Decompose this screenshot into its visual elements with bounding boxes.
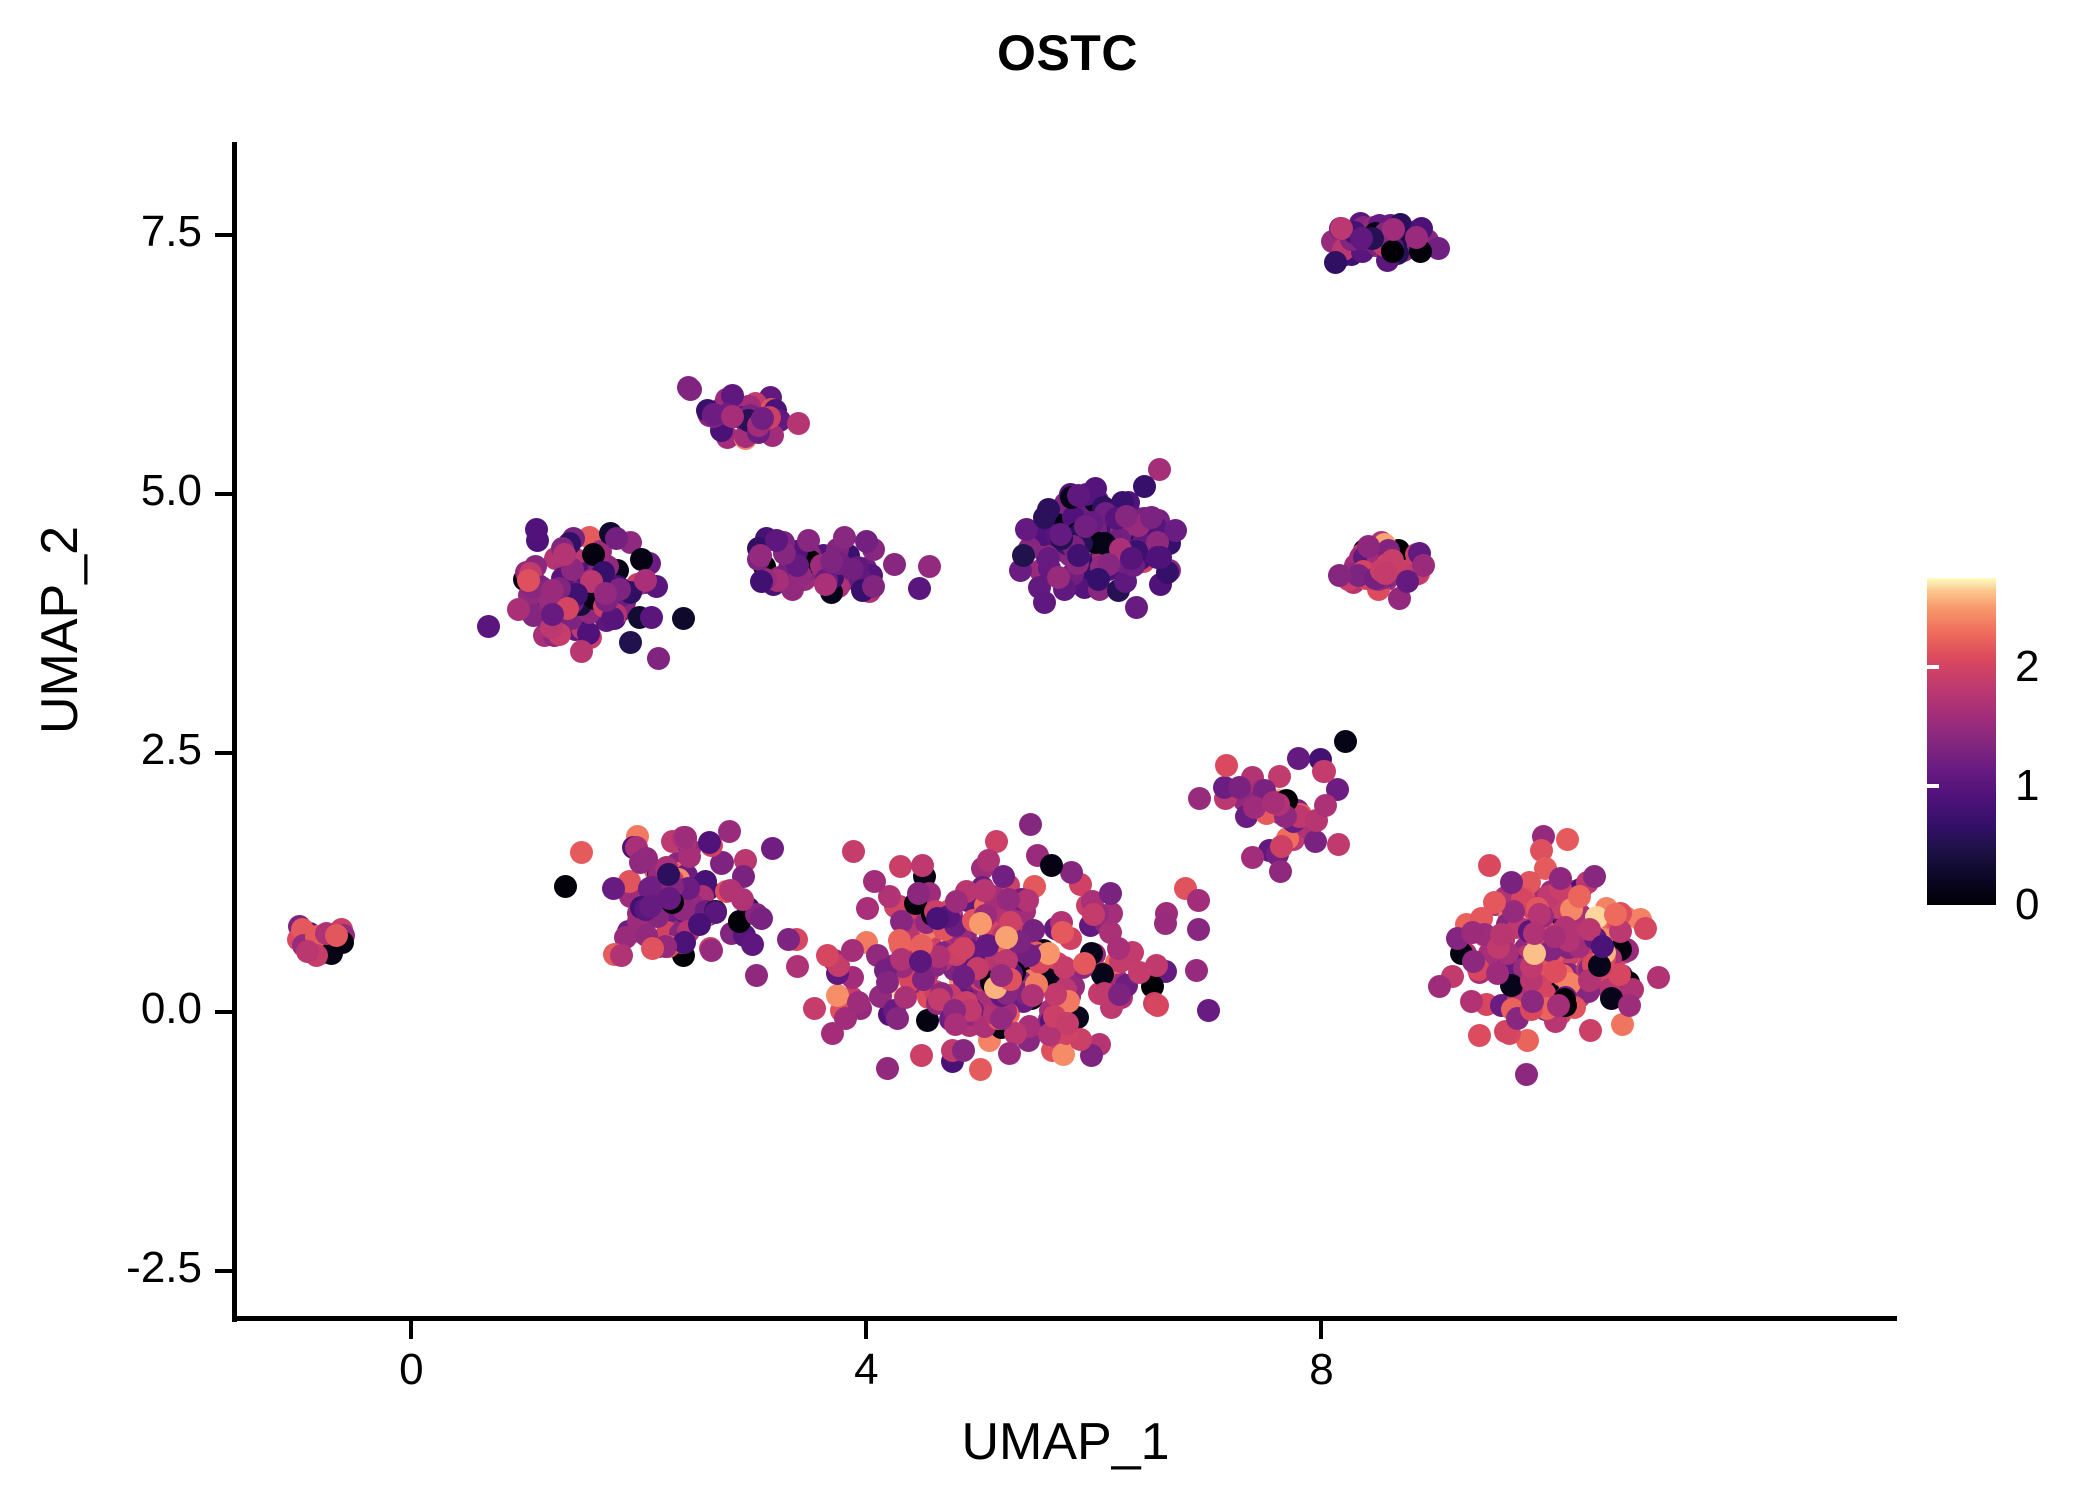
scatter-point	[554, 875, 577, 898]
scatter-point	[641, 937, 664, 960]
scatter-point	[1313, 760, 1336, 783]
scatter-point	[541, 603, 564, 626]
scatter-point	[749, 544, 772, 567]
scatter-point	[777, 928, 800, 951]
scatter-point	[570, 841, 593, 864]
x-axis-tick	[1319, 1321, 1323, 1339]
scatter-point	[678, 845, 701, 868]
scatter-point	[1462, 950, 1485, 973]
scatter-point	[1133, 475, 1156, 498]
scatter-point	[909, 950, 932, 973]
scatter-point	[1128, 961, 1151, 984]
scatter-point	[886, 1007, 909, 1030]
scatter-point	[296, 940, 319, 963]
y-axis-tick-label: 0.0	[0, 984, 202, 1034]
scatter-point	[570, 640, 593, 663]
y-axis-tick	[215, 492, 232, 496]
scatter-point	[1154, 912, 1177, 935]
scatter-point	[841, 939, 864, 962]
scatter-point	[1120, 547, 1143, 570]
scatter-point	[911, 854, 934, 877]
scatter-point	[1568, 885, 1591, 908]
scatter-point	[1270, 835, 1293, 858]
scatter-point	[797, 529, 820, 552]
scatter-point	[1056, 1012, 1079, 1035]
scatter-point	[640, 606, 663, 629]
scatter-point	[1146, 994, 1169, 1017]
scatter-point	[787, 412, 810, 435]
scatter-point	[855, 530, 878, 553]
x-axis-title: UMAP_1	[235, 1412, 1896, 1472]
scatter-point	[1478, 854, 1501, 877]
scatter-point	[908, 577, 931, 600]
scatter-point	[969, 1058, 992, 1081]
scatter-point	[672, 607, 695, 630]
scatter-point	[952, 937, 975, 960]
scatter-point	[862, 575, 885, 598]
y-axis-tick	[215, 751, 232, 755]
scatter-point	[1515, 1063, 1538, 1086]
y-axis-tick	[215, 233, 232, 237]
colorbar-gradient	[1927, 578, 1996, 905]
scatter-point	[619, 631, 642, 654]
colorbar-tick-mark	[2085, 784, 2097, 788]
colorbar-tick-label: 1	[2015, 764, 2039, 808]
scatter-point	[1287, 747, 1310, 770]
scatter-point	[1556, 828, 1579, 851]
scatter-point	[517, 569, 540, 592]
scatter-point	[1269, 860, 1292, 883]
scatter-point	[1634, 917, 1657, 940]
scatter-point	[719, 879, 742, 902]
scatter-point	[1087, 568, 1110, 591]
scatter-point	[786, 955, 809, 978]
scatter-point	[634, 569, 657, 592]
scatter-point	[1304, 830, 1327, 853]
scatter-point	[842, 840, 865, 863]
scatter-point	[1618, 994, 1641, 1017]
scatter-point	[918, 555, 941, 578]
scatter-point	[1125, 596, 1148, 619]
scatter-point	[945, 890, 968, 913]
x-axis-line	[232, 1316, 1897, 1321]
scatter-point-layer	[235, 142, 1896, 1318]
colorbar-tick-label: 0	[2015, 883, 2039, 927]
scatter-point	[639, 895, 662, 918]
scatter-point	[750, 570, 773, 593]
scatter-point	[1547, 994, 1570, 1017]
scatter-point	[995, 926, 1018, 949]
scatter-point	[1523, 942, 1546, 965]
scatter-point	[1604, 903, 1627, 926]
y-axis-line	[232, 142, 237, 1322]
scatter-point	[1033, 591, 1056, 614]
scatter-point	[1188, 787, 1211, 810]
scatter-point	[1382, 218, 1405, 241]
scatter-point	[635, 847, 658, 870]
scatter-point	[907, 882, 930, 905]
scatter-point	[969, 912, 992, 935]
scatter-point	[1490, 923, 1513, 946]
scatter-point	[1215, 754, 1238, 777]
scatter-point	[1396, 570, 1419, 593]
y-axis-tick-label: 7.5	[0, 207, 202, 257]
x-axis-tick	[864, 1321, 868, 1339]
y-axis-tick	[215, 1269, 232, 1273]
scatter-point	[1334, 730, 1357, 753]
scatter-point	[507, 598, 530, 621]
colorbar-tick-label: 2	[2015, 645, 2039, 689]
scatter-point	[1579, 1019, 1602, 1042]
y-axis-tick-label: -2.5	[0, 1243, 202, 1293]
x-axis-tick-label: 0	[351, 1345, 471, 1395]
scatter-point	[833, 526, 856, 549]
scatter-point	[910, 1044, 933, 1067]
scatter-point	[647, 647, 670, 670]
scatter-point	[926, 907, 949, 930]
scatter-point	[750, 907, 773, 930]
scatter-point	[1468, 1024, 1491, 1047]
scatter-point	[630, 548, 653, 571]
scatter-point	[814, 573, 837, 596]
x-axis-tick-label: 4	[806, 1345, 926, 1395]
scatter-point	[745, 964, 768, 987]
scatter-point	[602, 877, 625, 900]
scatter-point	[803, 997, 826, 1020]
scatter-point	[1314, 794, 1337, 817]
y-axis-tick	[215, 1010, 232, 1014]
scatter-point	[1185, 959, 1208, 982]
scatter-point	[1187, 889, 1210, 912]
scatter-point	[1350, 227, 1373, 250]
scatter-point	[876, 1057, 899, 1080]
scatter-point	[889, 855, 912, 878]
scatter-point	[856, 897, 879, 920]
scatter-point	[1019, 813, 1042, 836]
scatter-point	[610, 944, 633, 967]
scatter-point	[677, 376, 700, 399]
scatter-point	[1262, 791, 1285, 814]
scatter-point	[1047, 566, 1070, 589]
scatter-point	[700, 939, 723, 962]
chart-root: OSTC -2.50.02.55.07.5 048 UMAP_2 UMAP_1 …	[0, 0, 2100, 1500]
scatter-point	[1647, 966, 1670, 989]
scatter-point	[605, 527, 628, 550]
scatter-point	[894, 986, 917, 1009]
scatter-point	[997, 888, 1020, 911]
scatter-point	[990, 964, 1013, 987]
colorbar-tick-mark	[2085, 665, 2097, 669]
scatter-point	[1428, 975, 1451, 998]
scatter-point	[1146, 546, 1169, 569]
scatter-point	[1460, 990, 1483, 1013]
scatter-point	[1197, 999, 1220, 1022]
scatter-point	[657, 863, 680, 886]
chart-title: OSTC	[0, 24, 2100, 82]
scatter-point	[525, 518, 548, 541]
scatter-point	[1241, 846, 1264, 869]
scatter-point	[1099, 882, 1122, 905]
colorbar-tick-mark	[1927, 665, 1939, 669]
scatter-point	[1115, 505, 1138, 528]
scatter-point	[863, 870, 886, 893]
scatter-point	[1486, 962, 1509, 985]
scatter-point	[1583, 865, 1606, 888]
scatter-point	[477, 615, 500, 638]
scatter-point	[761, 837, 784, 860]
scatter-point	[1324, 251, 1347, 274]
scatter-point	[952, 1039, 975, 1062]
scatter-point	[1051, 921, 1074, 944]
scatter-point	[998, 1042, 1021, 1065]
colorbar-legend[interactable]: 012	[1927, 578, 2097, 918]
scatter-point	[1187, 918, 1210, 941]
x-axis-tick-label: 8	[1261, 1345, 1381, 1395]
x-axis-tick	[409, 1321, 413, 1339]
scatter-point	[826, 984, 849, 1007]
scatter-point	[751, 407, 774, 430]
scatter-point	[952, 965, 975, 988]
y-axis-title: UMAP_2	[30, 280, 90, 980]
scatter-point	[594, 582, 617, 605]
colorbar-tick-mark	[1927, 784, 1939, 788]
scatter-point	[1461, 921, 1484, 944]
scatter-point	[883, 553, 906, 576]
scatter-point	[990, 1007, 1013, 1030]
scatter-point	[1374, 562, 1397, 585]
plot-panel[interactable]	[235, 142, 1896, 1318]
scatter-point	[1073, 952, 1096, 975]
scatter-point	[1021, 984, 1044, 1007]
scatter-point	[688, 913, 711, 936]
scatter-point	[1327, 833, 1350, 856]
scatter-point	[741, 933, 764, 956]
scatter-point	[841, 558, 864, 581]
scatter-point	[721, 405, 744, 428]
scatter-point	[1107, 937, 1130, 960]
